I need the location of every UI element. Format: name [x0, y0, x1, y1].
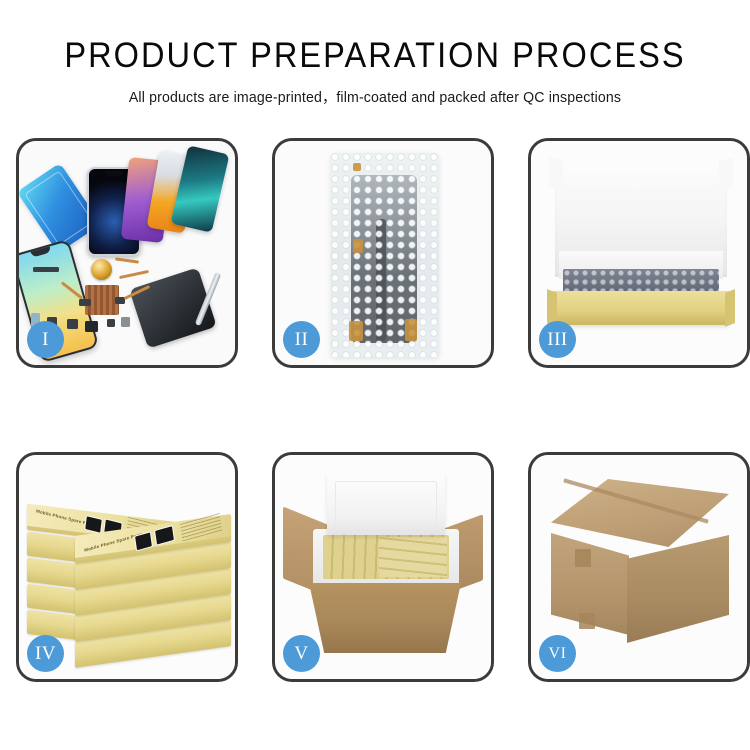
carton-body-icon	[309, 583, 461, 653]
carton-right-face-icon	[627, 535, 729, 643]
step-badge-5: V	[283, 635, 320, 672]
step-card-5: V	[272, 452, 494, 682]
step-badge-3: III	[539, 321, 576, 358]
process-steps-grid: I II	[16, 138, 734, 732]
flex-cable-icon	[119, 270, 149, 279]
carton-tape-icon	[579, 613, 595, 629]
flex-cable-icon	[115, 257, 139, 263]
component-chip-icon	[33, 267, 59, 272]
kraft-box-front-icon	[553, 291, 729, 325]
step-4-image: Mobile Phone Spare Parts Mobile Phone Sp…	[19, 455, 235, 679]
step-5-image: V	[275, 455, 491, 679]
carton-tape-icon	[575, 549, 591, 567]
step-badge-1: I	[27, 321, 64, 358]
step-6-image: VI	[531, 455, 747, 679]
step-card-3: III	[528, 138, 750, 368]
step-badge-4: IV	[27, 635, 64, 672]
bubble-wrap-bag-icon	[331, 153, 439, 357]
tape-icon	[349, 321, 363, 341]
step-badge-2: II	[283, 321, 320, 358]
tape-icon	[353, 239, 363, 253]
step-card-6: VI	[528, 452, 750, 682]
foam-lid-open-icon	[327, 473, 445, 535]
tape-icon	[353, 163, 361, 171]
step-3-image: III	[531, 141, 747, 365]
speaker-coil-icon	[91, 259, 112, 280]
step-badge-6: VI	[539, 635, 576, 672]
box-window-icon	[134, 531, 153, 551]
step-card-1: I	[16, 138, 238, 368]
component-chip-icon	[79, 299, 91, 306]
page-title: PRODUCT PREPARATION PROCESS	[26, 38, 724, 73]
page-header: PRODUCT PREPARATION PROCESS All products…	[0, 0, 750, 107]
carton-top-face-icon	[551, 479, 729, 547]
page-subtitle: All products are image-printed，film-coat…	[11, 86, 739, 107]
step-1-image: I	[19, 141, 235, 365]
product-preparation-process-page: PRODUCT PREPARATION PROCESS All products…	[0, 0, 750, 750]
component-chip-icon	[85, 321, 98, 332]
component-chip-icon	[67, 319, 78, 329]
tape-icon	[405, 319, 417, 341]
step-2-image: II	[275, 141, 491, 365]
packed-boxes-icon	[379, 537, 447, 577]
bubble-texture-icon	[331, 153, 439, 357]
component-chip-icon	[107, 319, 115, 327]
step-card-4: Mobile Phone Spare Parts Mobile Phone Sp…	[16, 452, 238, 682]
component-chip-icon	[121, 317, 130, 327]
step-card-2: II	[272, 138, 494, 368]
